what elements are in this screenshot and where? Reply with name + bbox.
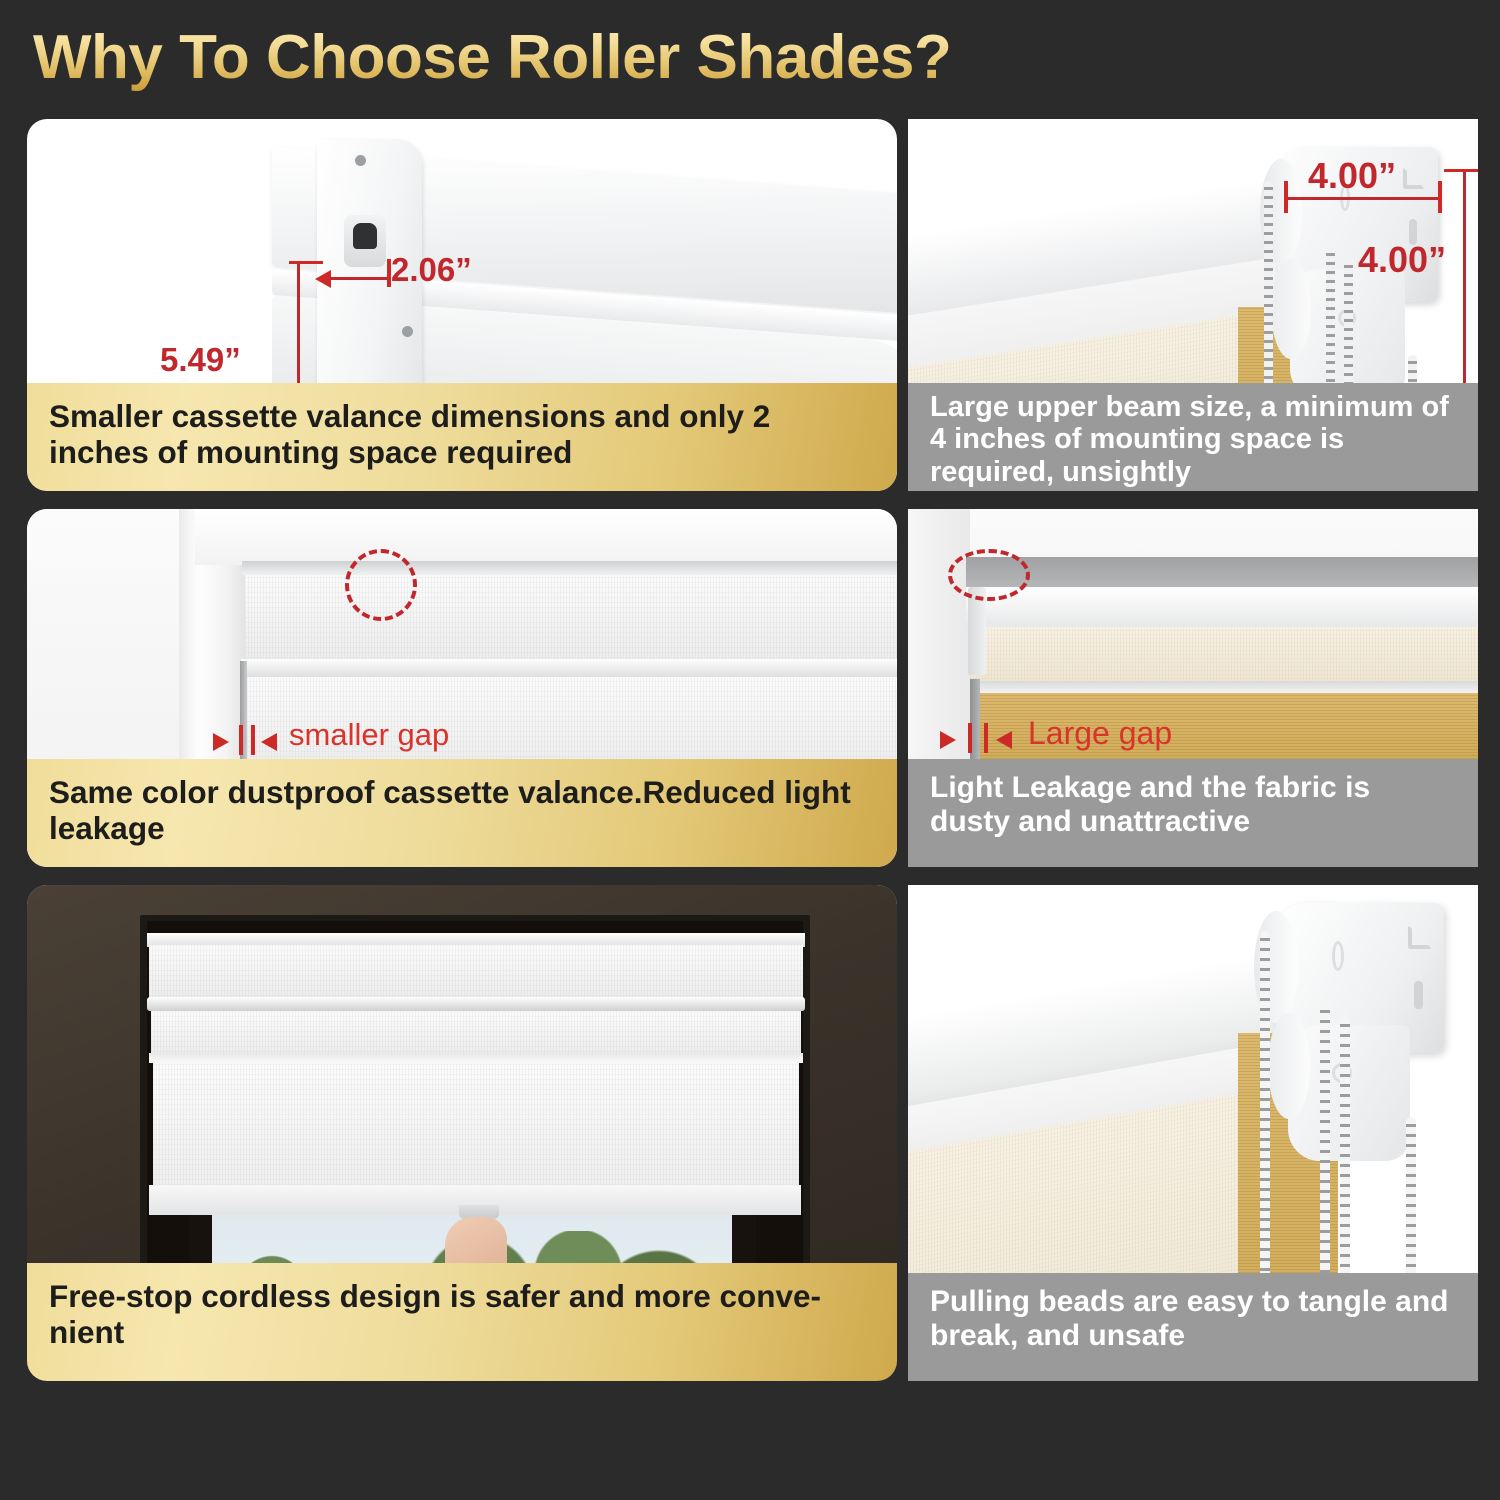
- gap-arrow-left: [940, 731, 956, 749]
- caption-bottom-right: Pulling beads are easy to tangle and bre…: [908, 1273, 1478, 1381]
- dimension-label-height: 4.00”: [1358, 239, 1446, 281]
- panel-top-right: 4.00” 4.00” Large upper beam size, a min…: [908, 119, 1478, 491]
- caption-bottom-left: Free-stop cordless design is safer and m…: [27, 1263, 897, 1381]
- dimension-label-width: 2.06”: [391, 251, 472, 289]
- panel-top-left: 2.06” 5.49” Smaller cassette valance dim…: [27, 119, 897, 491]
- panel-bottom-right: Pulling beads are easy to tangle and bre…: [908, 885, 1478, 1381]
- panel-middle-right: Large gap Light Leakage and the fabric i…: [908, 509, 1478, 867]
- gap-label-smaller: smaller gap: [289, 717, 449, 753]
- caption-middle-left: Same color dustproof cassette valance.Re…: [27, 759, 897, 867]
- panel-middle-left: smaller gap Same color dustproof cassett…: [27, 509, 897, 867]
- gap-arrow-right: [996, 731, 1012, 749]
- dimension-label-height: 5.49”: [160, 341, 241, 379]
- caption-top-right: Large upper beam size, a minimum of 4 in…: [908, 383, 1478, 491]
- dimension-line-width: [1286, 197, 1441, 200]
- caption-middle-right: Light Leakage and the fabric is dusty an…: [908, 759, 1478, 867]
- caption-top-left: Smaller cassette valance dimensions and …: [27, 383, 897, 491]
- gap-label-large: Large gap: [1028, 715, 1172, 752]
- dimension-label-width: 4.00”: [1308, 155, 1396, 197]
- page-title: Why To Choose Roller Shades?: [33, 22, 951, 93]
- panel-bottom-left: Free-stop cordless design is safer and m…: [27, 885, 897, 1381]
- gap-arrow-right: [261, 733, 277, 751]
- gap-arrow-left: [213, 733, 229, 751]
- highlight-ellipse: [948, 549, 1030, 601]
- highlight-ellipse: [345, 549, 417, 621]
